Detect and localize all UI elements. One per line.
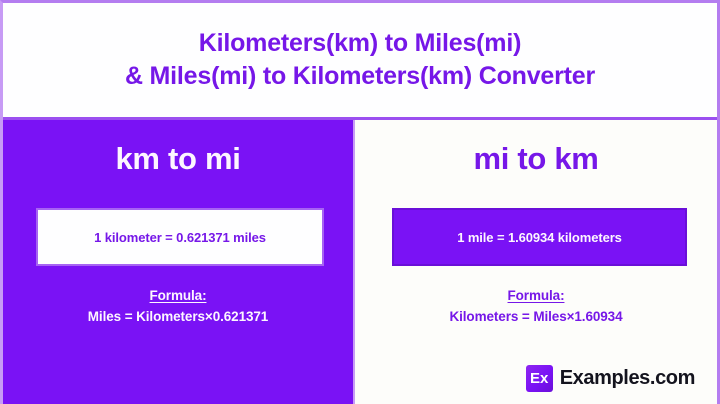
examples-badge-icon: Ex [526,365,553,392]
brand-name: Examples.com [560,367,695,390]
converter-infographic: Kilometers(km) to Miles(mi) & Miles(mi) … [0,0,720,404]
page-title-line-1: Kilometers(km) to Miles(mi) [125,27,595,60]
panel-mi-to-km: mi to km 1 mile = 1.60934 kilometers For… [355,120,717,404]
panel-mi-to-km-value: 1 mile = 1.60934 kilometers [457,230,622,245]
conversion-panels: km to mi 1 kilometer = 0.621371 miles Fo… [3,120,717,404]
panel-mi-to-km-value-box: 1 mile = 1.60934 kilometers [392,208,687,266]
panel-mi-to-km-formula: Formula: Kilometers = Miles×1.60934 [355,286,717,328]
panel-km-to-mi-value-box: 1 kilometer = 0.621371 miles [36,208,324,266]
page-title: Kilometers(km) to Miles(mi) & Miles(mi) … [105,27,615,93]
brand-logo: Ex Examples.com [526,365,695,392]
panel-km-to-mi-formula: Formula: Miles = Kilometers×0.621371 [3,286,353,328]
panel-mi-to-km-heading: mi to km [355,141,717,177]
panel-km-to-mi: km to mi 1 kilometer = 0.621371 miles Fo… [3,120,355,404]
header-band: Kilometers(km) to Miles(mi) & Miles(mi) … [3,3,717,120]
panel-mi-to-km-formula-body: Kilometers = Miles×1.60934 [355,307,717,328]
panel-mi-to-km-formula-label: Formula: [355,286,717,307]
page-title-line-2: & Miles(mi) to Kilometers(km) Converter [125,60,595,93]
panel-km-to-mi-formula-body: Miles = Kilometers×0.621371 [3,307,353,328]
panel-km-to-mi-heading: km to mi [3,141,353,177]
panel-km-to-mi-formula-label: Formula: [3,286,353,307]
panel-km-to-mi-value: 1 kilometer = 0.621371 miles [94,230,266,245]
